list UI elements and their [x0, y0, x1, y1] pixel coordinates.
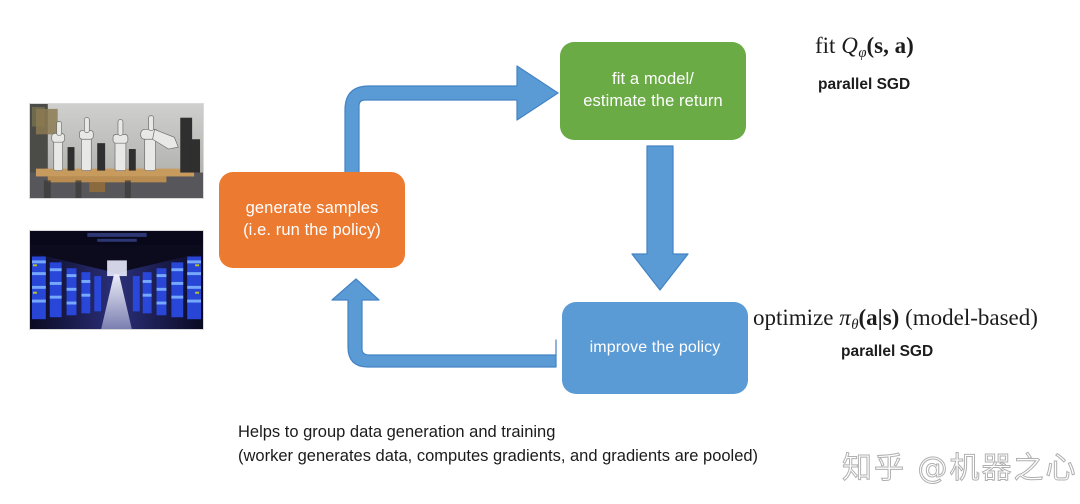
- slide-canvas: fit a model/ estimate the return generat…: [0, 0, 1080, 504]
- node-improve-line1: improve the policy: [590, 337, 721, 358]
- annotation-optimize-math-symbol: π: [839, 305, 851, 330]
- node-fit-line1: fit a model/: [583, 69, 722, 91]
- annotation-optimize-math: optimize πθ(a|s) (model-based): [753, 305, 1038, 334]
- node-generate-samples[interactable]: generate samples (i.e. run the policy): [219, 172, 405, 268]
- annotation-optimize-math-prefix: optimize: [753, 305, 833, 330]
- annotation-fit-math: fit Qφ(s, a): [815, 33, 914, 62]
- arrow-fit-to-improve: [632, 146, 688, 290]
- annotation-fit-sgd: parallel SGD: [818, 76, 910, 94]
- annotation-optimize-sgd: parallel SGD: [841, 343, 933, 361]
- node-fit-a-model[interactable]: fit a model/ estimate the return: [560, 42, 746, 140]
- robot-farm-illustration: [30, 104, 203, 198]
- annotation-optimize-math-suffix: (model-based): [905, 305, 1038, 330]
- watermark: 知乎 @机器之心: [842, 443, 1078, 487]
- caption-line2: (worker generates data, computes gradien…: [238, 444, 758, 468]
- annotation-optimize-math-args: (a|s): [859, 305, 900, 330]
- arrow-improve-to-generate: [332, 279, 556, 367]
- photo-robot-arm-farm: [29, 103, 204, 199]
- annotation-optimize-math-subscript: θ: [851, 317, 858, 333]
- annotation-fit-math-prefix: fit: [815, 33, 835, 58]
- node-improve-the-policy[interactable]: improve the policy: [562, 302, 748, 394]
- data-center-illustration: [30, 231, 203, 329]
- photo-data-center: [29, 230, 204, 330]
- annotation-fit-math-symbol: Q: [841, 33, 858, 58]
- node-fit-line2: estimate the return: [583, 91, 722, 113]
- node-generate-label: generate samples (i.e. run the policy): [243, 198, 381, 242]
- annotation-fit-math-args: (s, a): [866, 33, 913, 58]
- node-fit-label: fit a model/ estimate the return: [583, 69, 722, 113]
- caption: Helps to group data generation and train…: [238, 420, 758, 469]
- caption-line1: Helps to group data generation and train…: [238, 420, 758, 444]
- arrow-generate-to-fit: [345, 66, 558, 176]
- node-generate-line1: generate samples: [243, 198, 381, 220]
- node-improve-label: improve the policy: [590, 337, 721, 358]
- node-generate-line2: (i.e. run the policy): [243, 220, 381, 242]
